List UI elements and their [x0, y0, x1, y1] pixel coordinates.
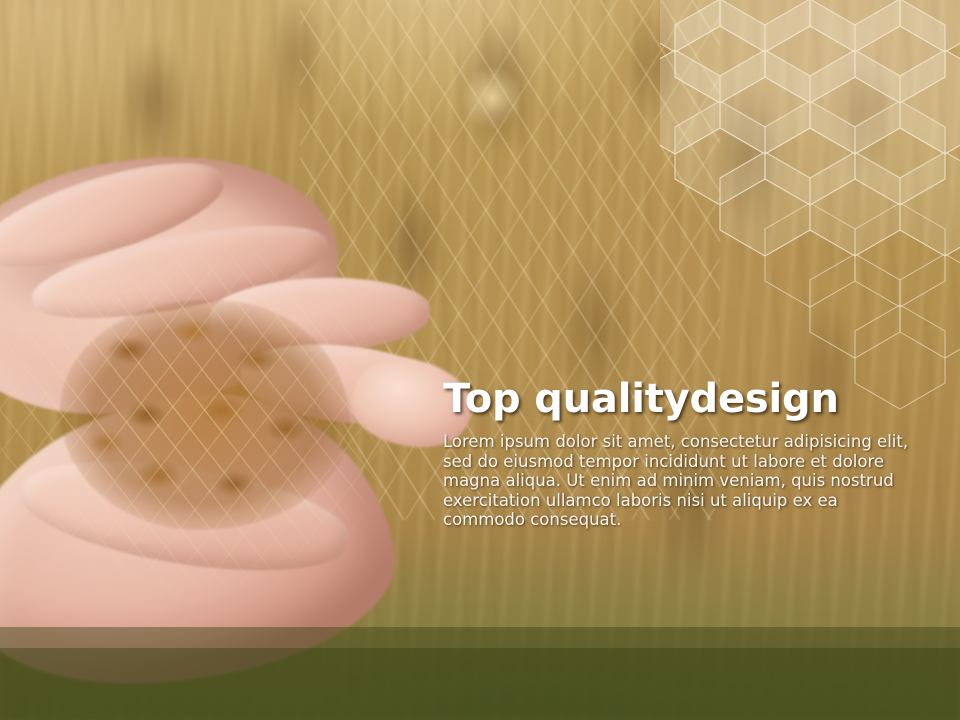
presentation-slide: Top qualitydesign Lorem ipsum dolor sit … — [0, 0, 960, 720]
hands-holding-grain — [0, 150, 480, 670]
page-title: Top qualitydesign — [443, 376, 923, 422]
bottom-band-lower — [0, 648, 960, 720]
slide-body-text: Lorem ipsum dolor sit amet, consectetur … — [443, 432, 923, 530]
grain-awns — [0, 210, 450, 610]
slide-text-block: Top qualitydesign Lorem ipsum dolor sit … — [443, 376, 923, 530]
background-photo — [0, 0, 960, 720]
